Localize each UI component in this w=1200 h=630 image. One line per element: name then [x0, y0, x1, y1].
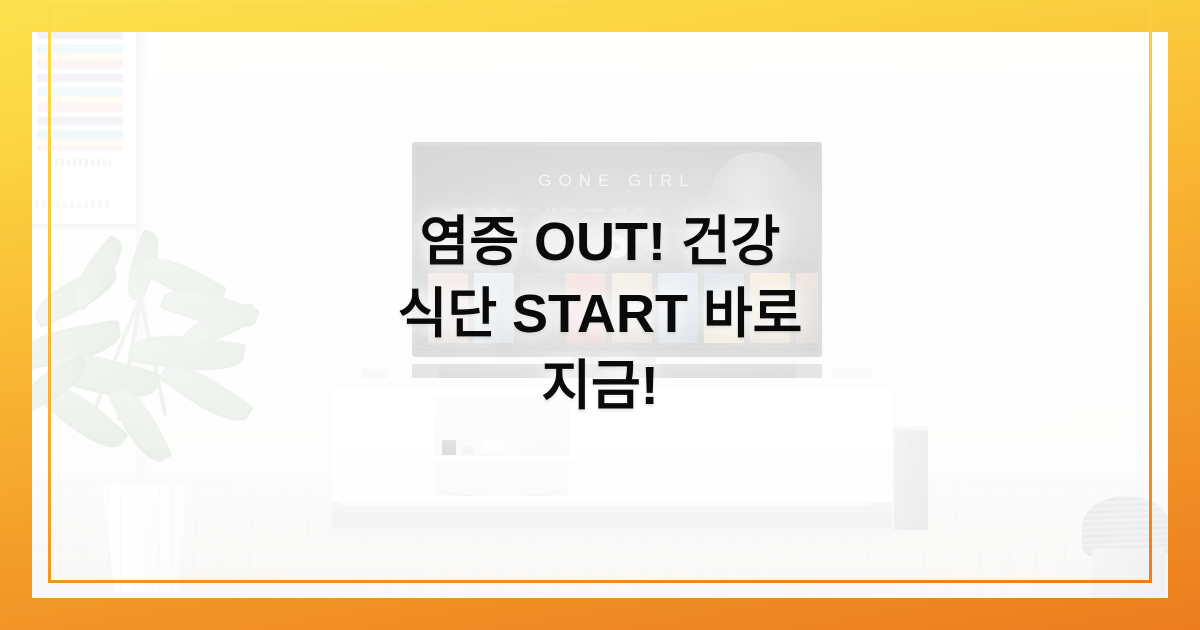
woven-basket — [1072, 496, 1168, 598]
television: GONE GIRL DIRECTOR 88% 17+ 2 hr 29 min D… — [412, 142, 822, 357]
tv-meta-cc-badge: CC — [653, 208, 662, 214]
console-laptop — [481, 441, 559, 454]
console-device-box — [442, 440, 456, 455]
promo-card: GONE GIRL DIRECTOR 88% 17+ 2 hr 29 min D… — [0, 0, 1200, 630]
tv-row-label: Recommended For You — [436, 265, 494, 271]
tv-meta-score: 88% — [506, 208, 518, 214]
floor-speaker — [894, 430, 928, 530]
artwork-stripes — [37, 32, 123, 151]
artwork-label — [35, 201, 111, 208]
tv-poster[interactable] — [474, 273, 514, 343]
tv-poster[interactable] — [704, 273, 744, 343]
houseplant — [32, 232, 280, 592]
tv-poster[interactable] — [428, 273, 468, 343]
console-shelf — [428, 456, 576, 463]
tv-footer-strip — [416, 342, 818, 349]
tv-poster[interactable] — [566, 273, 606, 343]
tv-meta-hd-badge: HD — [635, 208, 644, 214]
plant-pot — [94, 484, 198, 592]
framed-artwork — [32, 32, 140, 228]
tv-meta-genre: Drama — [586, 208, 604, 214]
console-top-surface — [326, 378, 898, 387]
tv-meta-director: DIRECTOR — [452, 208, 483, 214]
console-cable — [436, 476, 568, 498]
tv-meta-year: 2014 — [613, 208, 626, 214]
background-photo: GONE GIRL DIRECTOR 88% 17+ 2 hr 29 min D… — [32, 32, 1168, 598]
console-small-box — [462, 446, 473, 455]
tv-poster-row — [428, 273, 814, 343]
plant-leaf — [63, 234, 132, 311]
tv-play-label[interactable]: Play — [607, 247, 618, 253]
tv-meta-row: DIRECTOR 88% 17+ 2 hr 29 min Drama 2014 … — [452, 208, 782, 214]
console-drawer-handle — [339, 500, 872, 506]
basket-body — [1092, 548, 1166, 598]
tv-watchlist-button[interactable]: Watch List — [643, 247, 668, 253]
tv-poster[interactable] — [520, 273, 560, 343]
artwork-signature — [55, 159, 111, 166]
score-dot-icon — [492, 208, 497, 213]
tv-meta-runtime: 2 hr 29 min — [547, 208, 577, 214]
tv-meta-rating: 17+ — [527, 208, 537, 214]
tv-poster[interactable] — [612, 273, 652, 343]
tv-screen: GONE GIRL DIRECTOR 88% 17+ 2 hr 29 min D… — [416, 146, 818, 351]
artwork-mat — [32, 32, 129, 217]
tv-trailer-button[interactable]: Trailer — [565, 247, 580, 253]
media-console — [332, 384, 892, 528]
tv-show-title: GONE GIRL — [416, 171, 818, 191]
tv-poster[interactable] — [750, 273, 790, 343]
tv-poster[interactable] — [658, 273, 698, 343]
tv-poster[interactable] — [796, 273, 818, 343]
tv-action-buttons: Trailer Play Watch List — [416, 247, 818, 253]
